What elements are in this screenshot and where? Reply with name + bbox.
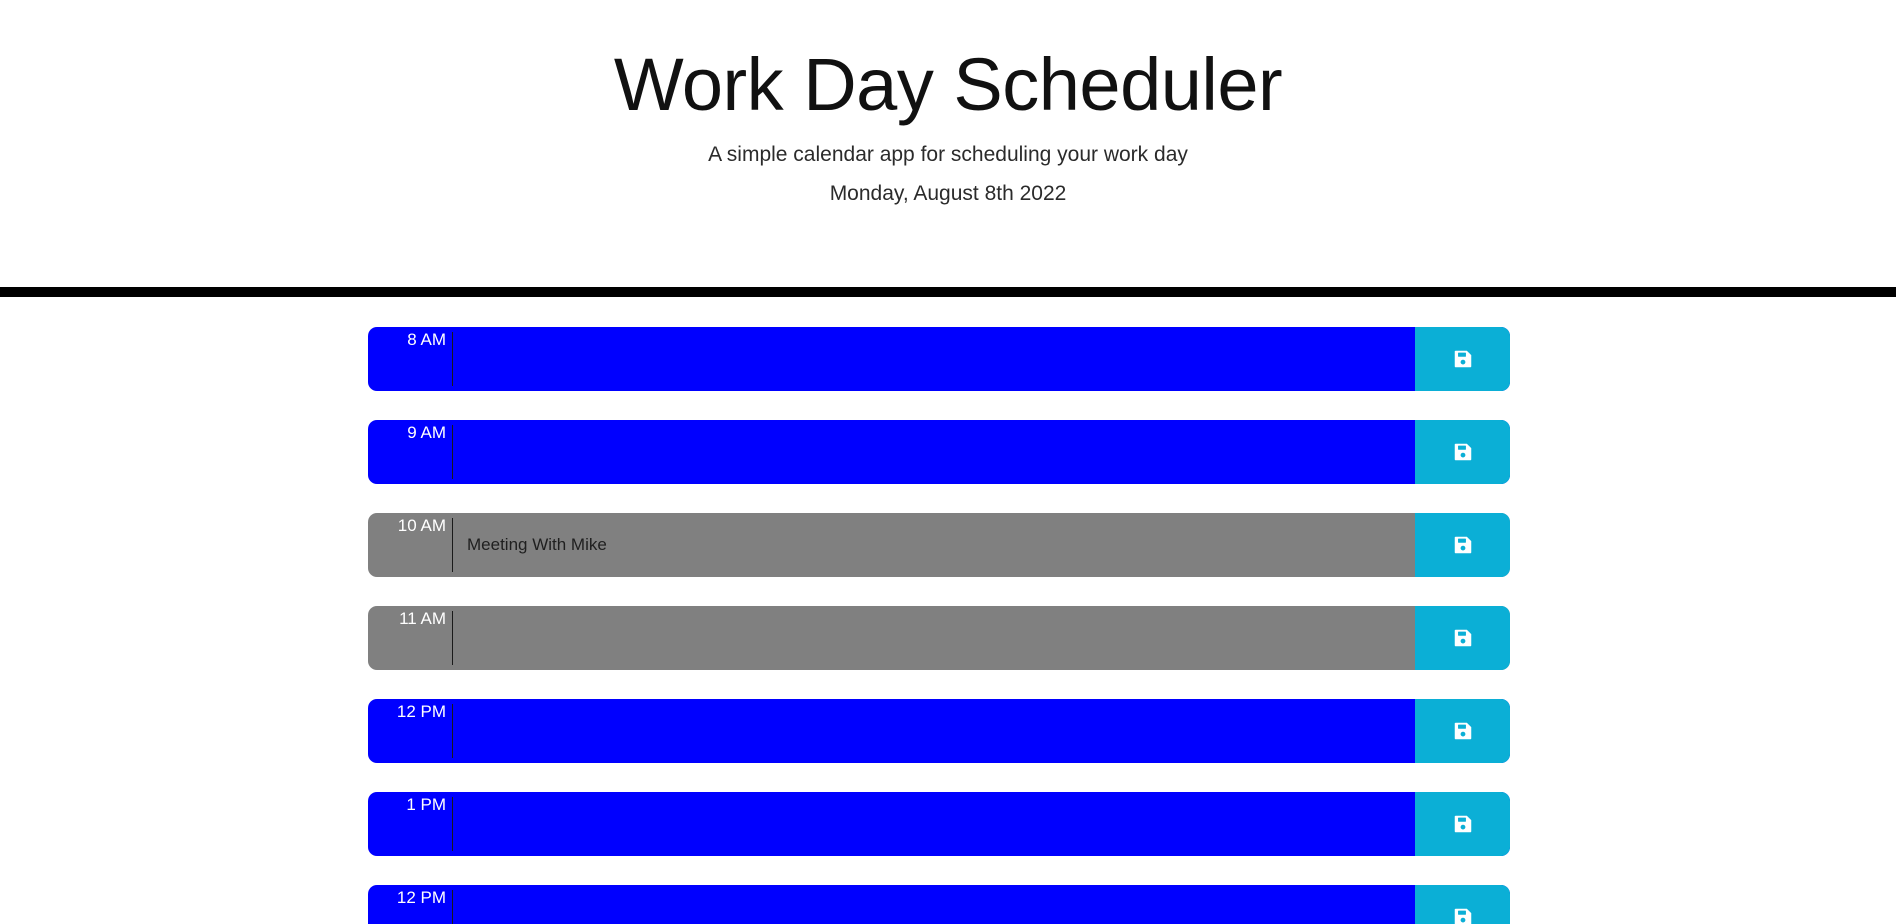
hour-label: 12 PM	[368, 699, 452, 763]
save-floppy-icon	[1452, 534, 1474, 556]
event-text-input[interactable]	[453, 327, 1415, 391]
event-text-input[interactable]	[453, 699, 1415, 763]
save-button[interactable]	[1415, 699, 1510, 763]
hour-label: 1 PM	[368, 792, 452, 856]
save-floppy-icon	[1452, 906, 1474, 924]
save-floppy-icon	[1452, 441, 1474, 463]
save-button[interactable]	[1415, 792, 1510, 856]
current-day-label: Monday, August 8th 2022	[0, 167, 1896, 206]
hour-label: 9 AM	[368, 420, 452, 484]
time-block: 12 PM	[368, 699, 1510, 763]
save-floppy-icon	[1452, 627, 1474, 649]
time-block: 10 AM	[368, 513, 1510, 577]
save-button[interactable]	[1415, 513, 1510, 577]
time-block: 9 AM	[368, 420, 1510, 484]
save-floppy-icon	[1452, 720, 1474, 742]
save-button[interactable]	[1415, 606, 1510, 670]
work-day-scheduler-page: Work Day Scheduler A simple calendar app…	[0, 0, 1896, 924]
time-block: 1 PM	[368, 792, 1510, 856]
save-button[interactable]	[1415, 420, 1510, 484]
save-floppy-icon	[1452, 348, 1474, 370]
event-text-input[interactable]	[453, 513, 1415, 577]
save-button[interactable]	[1415, 885, 1510, 924]
event-text-input[interactable]	[453, 792, 1415, 856]
page-title: Work Day Scheduler	[0, 48, 1896, 122]
hour-label: 8 AM	[368, 327, 452, 391]
time-block: 11 AM	[368, 606, 1510, 670]
event-text-input[interactable]	[453, 420, 1415, 484]
page-subtitle: A simple calendar app for scheduling you…	[0, 122, 1896, 167]
time-block-list: 8 AM9 AM10 AM11 AM12 PM1 PM12 PM	[368, 327, 1510, 924]
hour-label: 12 PM	[368, 885, 452, 924]
save-floppy-icon	[1452, 813, 1474, 835]
hour-label: 11 AM	[368, 606, 452, 670]
event-text-input[interactable]	[453, 606, 1415, 670]
time-block: 12 PM	[368, 885, 1510, 924]
time-block: 8 AM	[368, 327, 1510, 391]
header-divider	[0, 287, 1896, 297]
save-button[interactable]	[1415, 327, 1510, 391]
event-text-input[interactable]	[453, 885, 1415, 924]
page-header: Work Day Scheduler A simple calendar app…	[0, 0, 1896, 206]
hour-label: 10 AM	[368, 513, 452, 577]
